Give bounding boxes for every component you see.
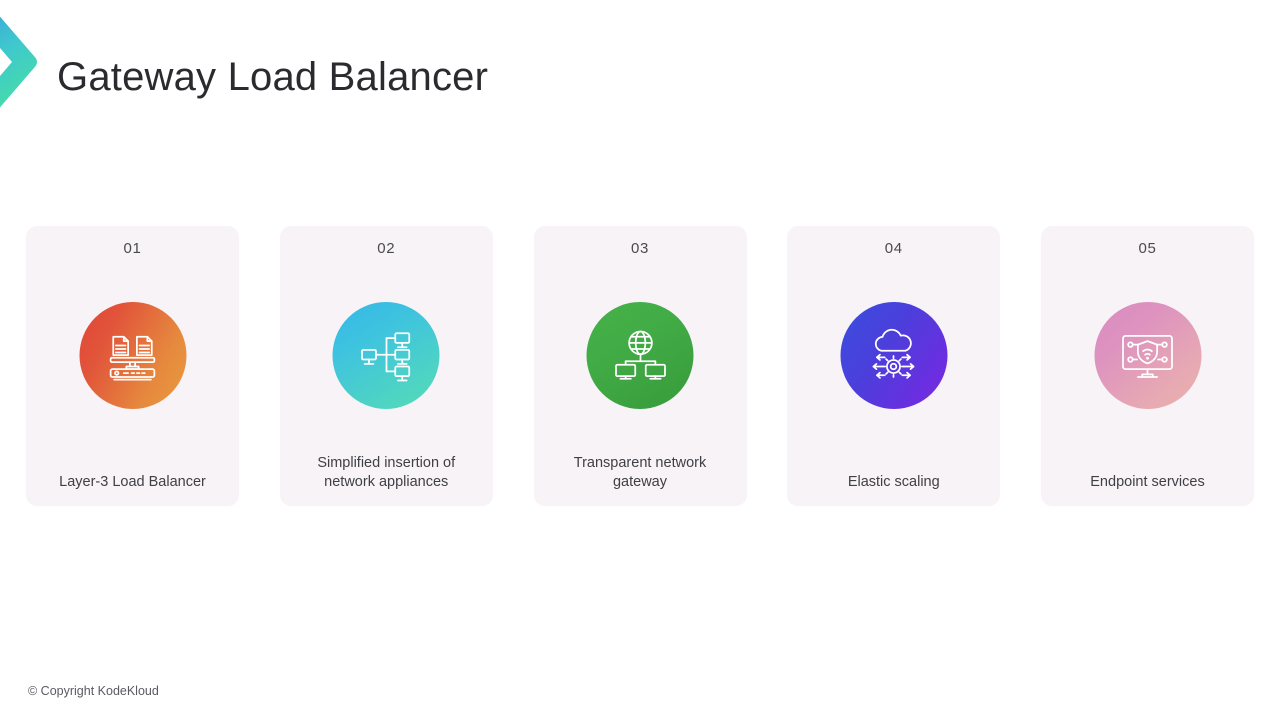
card-label: Layer-3 Load Balancer xyxy=(38,473,227,493)
network-topology-icon xyxy=(358,328,414,384)
icon-circle-04 xyxy=(840,302,947,409)
feature-card-04[interactable]: 04 Elastic scaling xyxy=(787,226,1000,506)
feature-card-05[interactable]: 05 Endpoint services xyxy=(1041,226,1254,506)
icon-circle-05 xyxy=(1094,302,1201,409)
feature-cards-strip: 01 Layer-3 Load Balancer 02 xyxy=(26,226,1254,506)
feature-card-01[interactable]: 01 Layer-3 Load Balancer xyxy=(26,226,239,506)
card-number: 03 xyxy=(631,241,649,256)
footer-copyright: © Copyright KodeKloud xyxy=(28,685,159,698)
card-number: 01 xyxy=(124,241,142,256)
card-number: 04 xyxy=(885,241,903,256)
server-documents-icon xyxy=(105,328,161,384)
icon-circle-03 xyxy=(587,302,694,409)
icon-circle-01 xyxy=(79,302,186,409)
card-number: 02 xyxy=(377,241,395,256)
page-title: Gateway Load Balancer xyxy=(57,54,488,100)
card-label: Endpoint services xyxy=(1053,473,1242,493)
card-label: Simplified insertion of network applianc… xyxy=(292,454,481,493)
card-number: 05 xyxy=(1139,241,1157,256)
card-label: Elastic scaling xyxy=(799,473,988,493)
chevron-right-icon xyxy=(0,12,50,112)
page-header: Gateway Load Balancer xyxy=(57,48,957,106)
feature-card-03[interactable]: 03 Transparent network gateway xyxy=(534,226,747,506)
cloud-gear-scaling-icon xyxy=(866,328,922,384)
icon-circle-02 xyxy=(333,302,440,409)
globe-network-icon xyxy=(612,328,668,384)
monitor-shield-wifi-icon xyxy=(1120,328,1176,384)
card-label: Transparent network gateway xyxy=(546,454,735,493)
feature-card-02[interactable]: 02 Simplified insertion of network appli… xyxy=(280,226,493,506)
